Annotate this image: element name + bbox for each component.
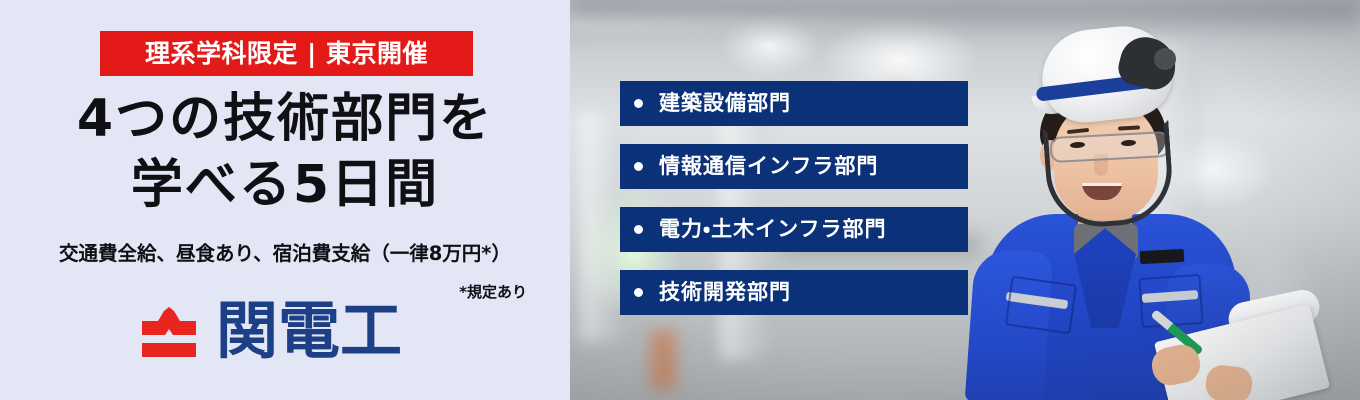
recruitment-banner: 理系学科限定 | 東京開催 4つの技術部門を 学べる5日間 交通費全給、昼食あり… <box>0 0 1360 400</box>
headline-line-2: 学べる5日間 <box>0 152 570 218</box>
logo-wordmark: 関電工 <box>216 300 402 362</box>
bullet-icon <box>634 99 643 108</box>
department-item-4[interactable]: 技術開発部門 <box>620 270 968 315</box>
bullet-icon <box>634 225 643 234</box>
status-badge: 理系学科限定 | 東京開催 <box>100 31 473 76</box>
department-item-1[interactable]: 建築設備部門 <box>620 81 968 126</box>
left-info-panel: 理系学科限定 | 東京開催 4つの技術部門を 学べる5日間 交通費全給、昼食あり… <box>0 0 570 400</box>
department-list: 建築設備部門 情報通信インフラ部門 電力・土木インフラ部門 技術開発部門 <box>620 81 968 333</box>
perks-label: 交通費全給、昼食あり、宿泊費支給（一律8万円*） <box>0 243 570 264</box>
bullet-icon <box>634 162 643 171</box>
company-logo: 関電工 <box>140 300 402 362</box>
department-label: 技術開発部門 <box>659 282 791 303</box>
worker-photo-subject <box>970 28 1360 400</box>
department-label: 情報通信インフラ部門 <box>659 156 878 177</box>
kandenko-mark-icon <box>140 303 198 359</box>
worker-uniform-pocket-right <box>1138 274 1203 328</box>
department-label: 建築設備部門 <box>659 93 791 114</box>
background-column-left <box>580 112 624 342</box>
footnote-label: *規定あり <box>459 283 527 301</box>
helmet-accessory-dial <box>1154 48 1176 70</box>
worker-name-tag <box>1140 249 1185 264</box>
department-item-2[interactable]: 情報通信インフラ部門 <box>620 144 968 189</box>
badge-label: 理系学科限定 | 東京開催 <box>145 41 428 66</box>
worker-uniform-pocket-left <box>1005 276 1077 335</box>
right-photo-panel: 建築設備部門 情報通信インフラ部門 電力・土木インフラ部門 技術開発部門 <box>570 0 1360 400</box>
department-label: 電力・土木インフラ部門 <box>659 219 887 240</box>
perks-section: 交通費全給、昼食あり、宿泊費支給（一律8万円*） <box>0 243 570 264</box>
background-orange-accent <box>650 330 676 390</box>
bullet-icon <box>634 288 643 297</box>
page-title: 4つの技術部門を 学べる5日間 <box>0 86 570 218</box>
department-item-3[interactable]: 電力・土木インフラ部門 <box>620 207 968 252</box>
headline-line-1: 4つの技術部門を <box>0 86 570 152</box>
